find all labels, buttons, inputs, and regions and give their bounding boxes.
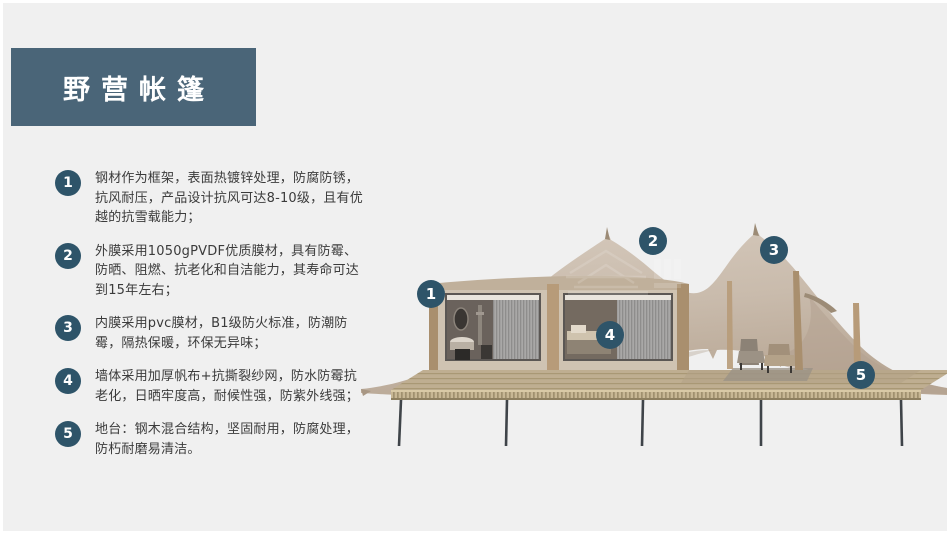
hotspot-marker-1[interactable]: 1	[417, 280, 445, 308]
canopy-peak-left	[605, 227, 610, 240]
feature-badge-5: 5	[55, 421, 81, 447]
canopy-peak-right	[753, 223, 759, 236]
tent-illustration	[361, 153, 950, 453]
feature-item-5: 5 地台：钢木混合结构，坚固耐用，防腐处理，防朽耐磨易清洁。	[55, 420, 375, 459]
hotspot-marker-5[interactable]: 5	[847, 361, 875, 389]
feature-badge-4: 4	[55, 368, 81, 394]
feature-text-4: 墙体采用加厚帆布+抗撕裂纱网，防水防霉抗老化，日晒牢度高，耐候性强，防紫外线强；	[95, 367, 363, 406]
feature-item-3: 3 内膜采用pvc膜材，B1级防火标准，防潮防霉，隔热保暖，环保无异味；	[55, 314, 375, 353]
feature-item-1: 1 钢材作为框架，表面热镀锌处理，防腐防锈，抗风耐压，产品设计抗风可达8-10级…	[55, 169, 375, 228]
feature-badge-2: 2	[55, 243, 81, 269]
deck-support-legs	[399, 400, 902, 446]
feature-item-4: 4 墙体采用加厚帆布+抗撕裂纱网，防水防霉抗老化，日晒牢度高，耐候性强，防紫外线…	[55, 367, 375, 406]
slide-canvas: 野营帐篷 1 钢材作为框架，表面热镀锌处理，防腐防锈，抗风耐压，产品设计抗风可达…	[0, 0, 950, 534]
hotspot-marker-4[interactable]: 4	[596, 321, 624, 349]
cabin-post-right	[677, 284, 689, 370]
deck-edge-highlight	[391, 390, 921, 392]
page-title: 野营帐篷	[52, 68, 215, 107]
hotspot-marker-3[interactable]: 3	[760, 236, 788, 264]
feature-badge-3: 3	[55, 315, 81, 341]
feature-text-5: 地台：钢木混合结构，坚固耐用，防腐处理，防朽耐磨易清洁。	[95, 420, 363, 459]
feature-text-2: 外膜采用1050gPVDF优质膜材，具有防霉、防晒、阻燃、抗老化和自洁能力，其寿…	[95, 242, 363, 301]
feature-text-3: 内膜采用pvc膜材，B1级防火标准，防潮防霉，隔热保暖，环保无异味；	[95, 314, 363, 353]
hotspot-marker-2[interactable]: 2	[639, 227, 667, 255]
deck-edge-shadow	[391, 398, 921, 400]
feature-text-1: 钢材作为框架，表面热镀锌处理，防腐防锈，抗风耐压，产品设计抗风可达8-10级，且…	[95, 169, 363, 228]
window-left-bathroom	[445, 293, 541, 361]
feature-badge-1: 1	[55, 170, 81, 196]
feature-item-2: 2 外膜采用1050gPVDF优质膜材，具有防霉、防晒、阻燃、抗老化和自洁能力，…	[55, 242, 375, 301]
cabin-post-center	[547, 284, 559, 370]
title-banner: 野营帐篷	[11, 48, 256, 126]
feature-list: 1 钢材作为框架，表面热镀锌处理，防腐防锈，抗风耐压，产品设计抗风可达8-10级…	[55, 169, 375, 473]
